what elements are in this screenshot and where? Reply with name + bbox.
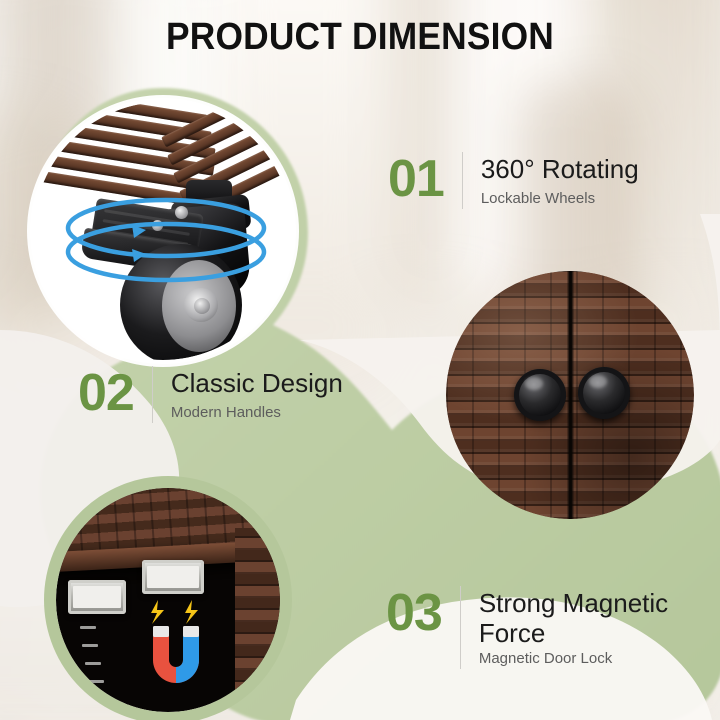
rotation-arrows-icon bbox=[34, 102, 292, 360]
magnetic-latch-left bbox=[68, 580, 126, 614]
horseshoe-magnet-icon bbox=[138, 600, 214, 704]
feature-divider-02 bbox=[152, 366, 153, 423]
page-title: PRODUCT DIMENSION bbox=[25, 14, 695, 60]
feature-subheading-03: Magnetic Door Lock bbox=[479, 649, 668, 669]
feature-number-02: 02 bbox=[78, 366, 152, 420]
feature-number-03: 03 bbox=[386, 586, 460, 640]
door-knob-right bbox=[578, 367, 630, 419]
feature-item-02: 02 Classic Design Modern Handles bbox=[78, 366, 343, 423]
feature-photo-magnetic-latch bbox=[56, 488, 280, 712]
door-seam bbox=[567, 271, 574, 519]
feature-photo-caster-wheel bbox=[34, 102, 292, 360]
feature-heading-02: Classic Design bbox=[171, 368, 343, 398]
door-knob-left bbox=[514, 369, 566, 421]
feature-divider-03 bbox=[460, 586, 461, 669]
feature-heading-01: 360° Rotating bbox=[481, 154, 639, 184]
infographic-canvas: PRODUCT DIMENSION 01 360° Rotating Locka… bbox=[0, 0, 720, 720]
feature-item-03: 03 Strong Magnetic Force Magnetic Door L… bbox=[386, 586, 668, 669]
feature-photo-door-knobs bbox=[446, 271, 694, 519]
feature-divider-01 bbox=[462, 152, 463, 209]
feature-heading-03: Strong Magnetic Force bbox=[479, 588, 668, 648]
magnetic-latch-right bbox=[142, 560, 204, 594]
feature-subheading-01: Lockable Wheels bbox=[481, 189, 639, 209]
feature-subheading-02: Modern Handles bbox=[171, 403, 343, 423]
feature-item-01: 01 360° Rotating Lockable Wheels bbox=[388, 152, 639, 209]
feature-number-01: 01 bbox=[388, 152, 462, 206]
